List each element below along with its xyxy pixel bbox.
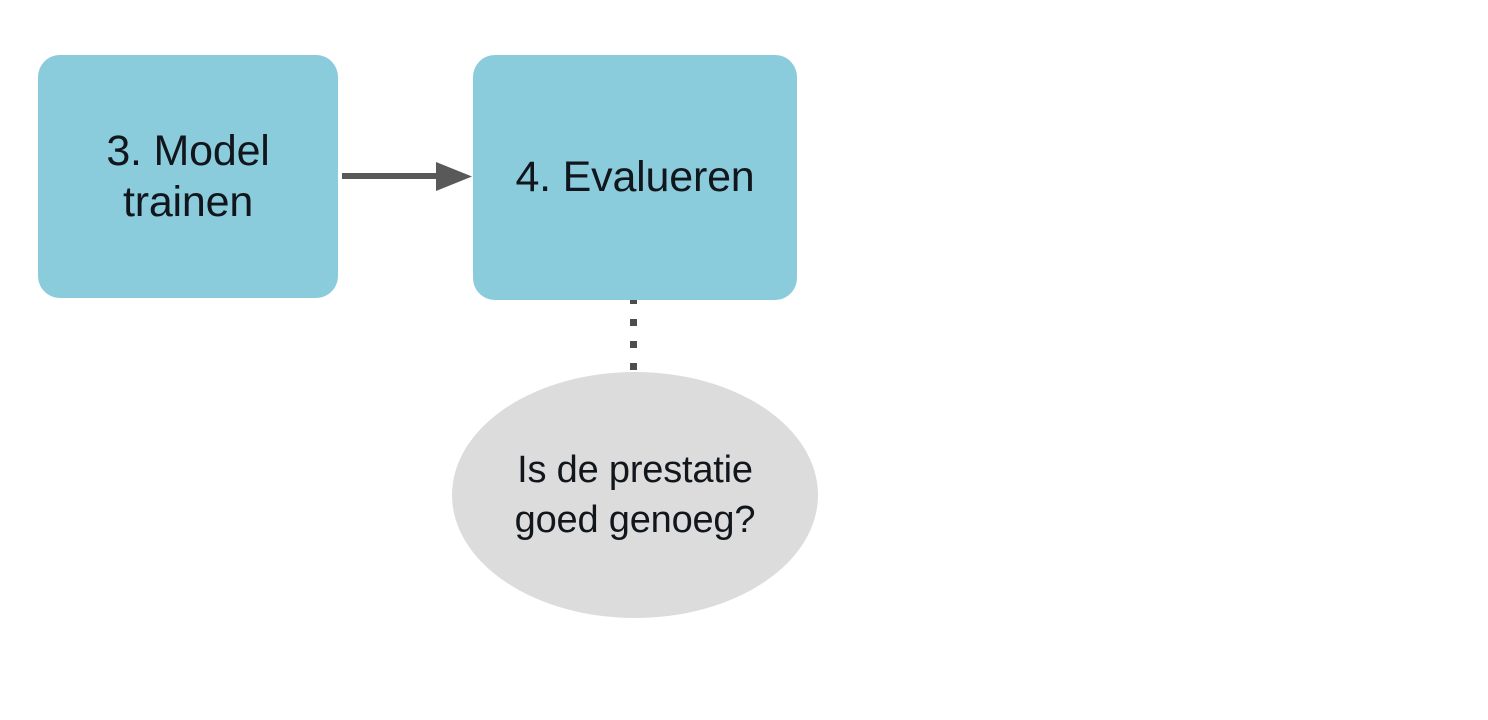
node-prestatie-goed-genoeg-label: Is de prestatie goed genoeg? bbox=[515, 445, 756, 545]
node-model-trainen[interactable]: 3. Model trainen bbox=[38, 55, 338, 298]
dot-segment bbox=[630, 341, 637, 348]
arrow-head-icon bbox=[436, 162, 472, 191]
dotted-evalueren-to-prestatie bbox=[630, 297, 637, 370]
arrow-trainen-to-evalueren bbox=[342, 162, 472, 191]
dot-segment bbox=[630, 319, 637, 326]
dot-segment bbox=[630, 363, 637, 370]
diagram-canvas: 3. Model trainen 4. Evalueren Is de pres… bbox=[0, 0, 1488, 720]
node-evalueren-label: 4. Evalueren bbox=[515, 152, 754, 203]
node-evalueren[interactable]: 4. Evalueren bbox=[473, 55, 797, 300]
node-prestatie-goed-genoeg[interactable]: Is de prestatie goed genoeg? bbox=[452, 372, 818, 618]
node-model-trainen-label: 3. Model trainen bbox=[106, 126, 269, 227]
